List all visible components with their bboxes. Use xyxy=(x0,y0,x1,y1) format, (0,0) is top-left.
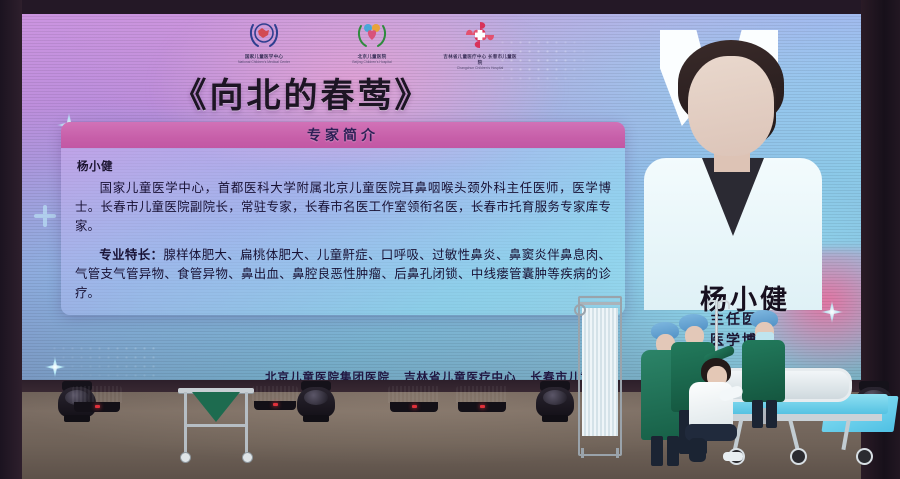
stage-floor-monitor xyxy=(72,386,122,412)
presentation-title: 《向北的春莺》 xyxy=(22,68,582,117)
card-body: 杨小健 国家儿童医学中心，首都医科大学附属北京儿童医院耳鼻咽喉头颈外科主任医师，… xyxy=(61,148,625,315)
medical-trolley-cart xyxy=(178,388,254,462)
dark-jeans-shin xyxy=(689,438,706,462)
actor-surgeon-right xyxy=(740,310,786,428)
portrait-face xyxy=(688,56,774,156)
beijing-childrens-hospital-logo: 北京儿童医院 Beijing Children's Hospital xyxy=(333,18,411,65)
card-header-title: 专家简介 xyxy=(61,122,625,148)
green-scrubs xyxy=(742,340,785,402)
expert-bio-paragraph: 国家儿童医学中心，首都医科大学附属北京儿童医院耳鼻咽喉头颈外科主任医师，医学博士… xyxy=(75,179,611,237)
national-childrens-medical-center-logo: 国家儿童医学中心 National Children's Medical Cen… xyxy=(225,18,303,65)
expert-specialty-paragraph: 专业特长：腺样体肥大、扁桃体肥大、儿童鼾症、口呼吸、过敏性鼻炎、鼻窦炎伴鼻息肉、… xyxy=(75,246,611,304)
expert-profile-card: 专家简介 杨小健 国家儿童医学中心，首都医科大学附属北京儿童医院耳鼻咽喉头颈外科… xyxy=(61,122,625,315)
stage-floor-monitor xyxy=(388,386,440,412)
green-surgical-drape xyxy=(192,392,240,422)
actor-kneeling-mother xyxy=(683,358,745,464)
logo-mark-wreath-map-icon xyxy=(225,18,303,52)
white-shoe xyxy=(723,452,743,461)
stage-floor-monitor xyxy=(456,386,508,412)
logo-caption: 北京儿童医院 Beijing Children's Hospital xyxy=(333,54,411,65)
changchun-childrens-hospital-logo: 吉林省儿童医疗中心 长春市儿童医院 Changchun Children's H… xyxy=(441,18,519,71)
stage-floor-monitor xyxy=(252,386,298,410)
logo-mark-heart-wreath-icon xyxy=(333,18,411,52)
venue-stage-scene: 国家儿童医学中心 National Children's Medical Cen… xyxy=(0,0,900,479)
logo-caption: 国家儿童医学中心 National Children's Medical Cen… xyxy=(225,54,303,65)
logo-mark-pinwheel-cross-icon xyxy=(441,18,519,52)
venue-wall-left xyxy=(0,0,22,479)
expert-portrait-photo xyxy=(630,30,845,310)
organization-logo-row: 国家儿童医学中心 National Children's Medical Cen… xyxy=(225,18,519,71)
expert-name: 杨小健 xyxy=(77,158,611,174)
medical-privacy-screen xyxy=(578,296,622,456)
